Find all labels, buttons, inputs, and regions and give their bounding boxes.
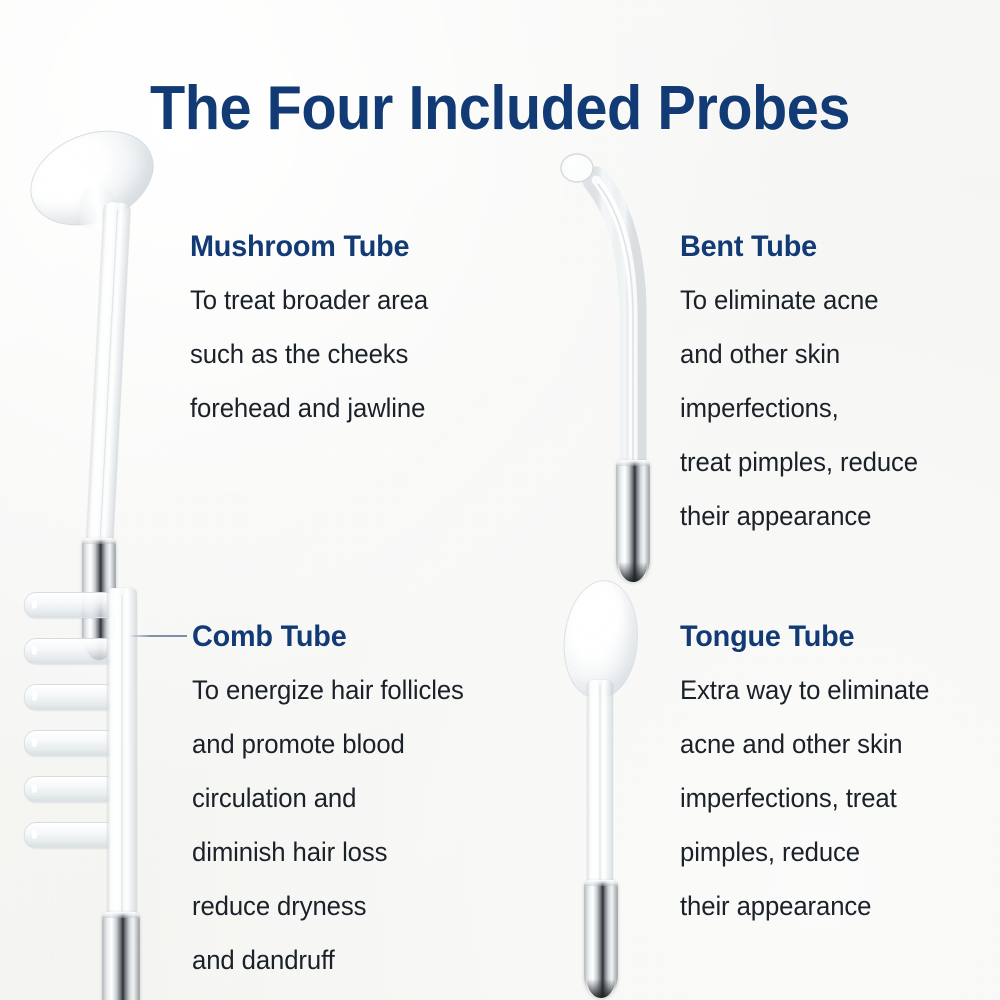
description-line: circulation and <box>192 771 464 825</box>
probe-description-mushroom: To treat broader area such as the cheeks… <box>190 273 428 435</box>
bent-tube-probe-image <box>540 130 690 570</box>
description-line: treat pimples, reduce <box>680 435 918 489</box>
tongue-tube-probe-image <box>540 580 680 980</box>
probe-block-mushroom: Mushroom Tube To treat broader area such… <box>190 230 435 435</box>
description-line: diminish hair loss <box>192 825 464 879</box>
comb-tooth <box>24 592 118 618</box>
probe-description-bent: To eliminate acne and other skin imperfe… <box>680 273 918 543</box>
description-line: their appearance <box>680 879 929 933</box>
probe-heading-mushroom: Mushroom Tube <box>190 230 426 264</box>
description-line: Extra way to eliminate <box>680 663 929 717</box>
description-line: reduce dryness <box>192 879 464 933</box>
probe-block-comb: Comb Tube To energize hair follicles and… <box>192 620 472 987</box>
comb-chrome-base <box>102 912 140 1000</box>
description-line: such as the cheeks <box>190 327 428 381</box>
description-line: and other skin <box>680 327 918 381</box>
probe-description-comb: To energize hair follicles and promote b… <box>192 663 464 987</box>
comb-tooth <box>24 638 118 664</box>
description-line: their appearance <box>680 489 918 543</box>
comb-glass-stem <box>107 588 137 918</box>
description-line: pimples, reduce <box>680 825 929 879</box>
comb-leader-line <box>131 635 187 637</box>
description-line: forehead and jawline <box>190 381 428 435</box>
probe-block-tongue: Tongue Tube Extra way to eliminate acne … <box>680 620 937 933</box>
comb-tooth <box>24 684 118 710</box>
infographic-page: The Four Included Probes Mushroom Tube T… <box>0 0 1000 1000</box>
description-line: acne and other skin <box>680 717 929 771</box>
description-line: To energize hair follicles <box>192 663 464 717</box>
tongue-glass-stem <box>587 680 613 892</box>
description-line: To treat broader area <box>190 273 428 327</box>
probe-description-tongue: Extra way to eliminate acne and other sk… <box>680 663 929 933</box>
comb-tooth <box>24 776 118 802</box>
tongue-chrome-base <box>584 880 618 998</box>
comb-tooth <box>24 822 118 848</box>
probe-heading-tongue: Tongue Tube <box>680 620 927 654</box>
description-line: and dandruff <box>192 933 464 987</box>
bent-glass-stem <box>540 130 690 490</box>
probe-heading-bent: Bent Tube <box>680 230 916 264</box>
description-line: To eliminate acne <box>680 273 918 327</box>
mushroom-tube-probe-image <box>0 110 190 570</box>
comb-tooth <box>24 730 118 756</box>
description-line: and promote blood <box>192 717 464 771</box>
probe-block-bent: Bent Tube To eliminate acne and other sk… <box>680 230 925 543</box>
description-line: imperfections, <box>680 381 918 435</box>
bent-chrome-base <box>616 460 650 582</box>
description-line: imperfections, treat <box>680 771 929 825</box>
probe-heading-comb: Comb Tube <box>192 620 461 654</box>
mushroom-glass-stem <box>86 202 131 545</box>
comb-tube-probe-image <box>10 580 190 980</box>
